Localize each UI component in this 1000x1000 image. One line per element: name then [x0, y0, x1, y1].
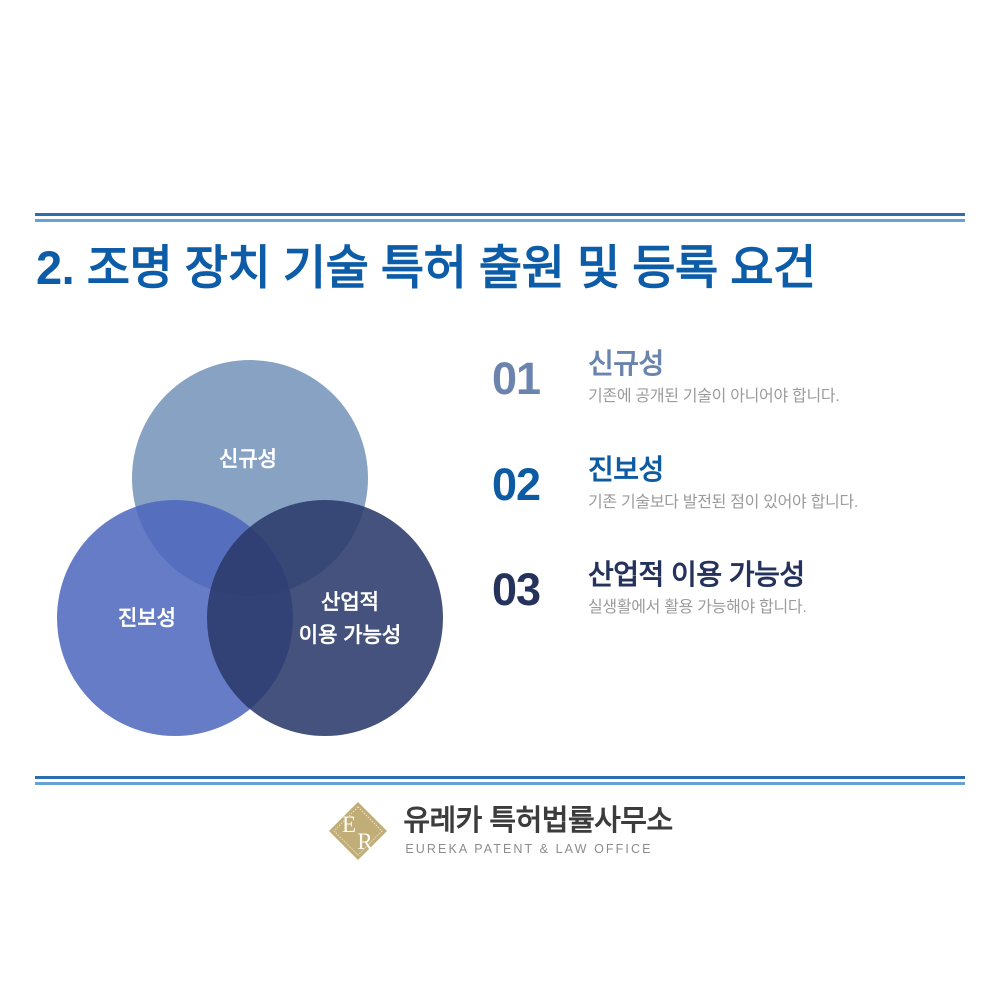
firm-name-english: EUREKA PATENT & LAW OFFICE	[403, 842, 652, 856]
requirement-body-01: 신규성 기존에 공개된 기술이 아니어야 합니다.	[588, 346, 962, 408]
page-title: 2. 조명 장치 기술 특허 출원 및 등록 요건	[36, 243, 966, 293]
venn-label-bottom-left: 진보성	[118, 607, 176, 630]
eureka-diamond-logo-icon: E R	[327, 800, 389, 862]
requirements-list: 01 신규성 기존에 공개된 기술이 아니어야 합니다. 02 진보성 기존 기…	[492, 346, 962, 619]
requirement-number-03: 03	[492, 557, 588, 612]
requirement-body-02: 진보성 기존 기술보다 발전된 점이 있어야 합니다.	[588, 452, 962, 514]
divider-top-line-secondary	[35, 219, 965, 222]
requirement-item-03: 03 산업적 이용 가능성 실생활에서 활용 가능해야 합니다.	[492, 557, 962, 619]
requirement-heading-03: 산업적 이용 가능성	[588, 557, 962, 592]
logo-monogram-r: R	[358, 829, 374, 854]
requirement-number-02: 02	[492, 452, 588, 507]
requirement-item-01: 01 신규성 기존에 공개된 기술이 아니어야 합니다.	[492, 346, 962, 408]
requirement-body-03: 산업적 이용 가능성 실생활에서 활용 가능해야 합니다.	[588, 557, 962, 619]
divider-bottom	[35, 776, 965, 785]
divider-top	[35, 213, 965, 222]
venn-label-top: 신규성	[219, 448, 277, 471]
requirement-description-03: 실생활에서 활용 가능해야 합니다.	[588, 597, 962, 619]
requirement-heading-02: 진보성	[588, 452, 962, 487]
venn-label-bottom-right-line2: 이용 가능성	[299, 624, 401, 647]
requirement-item-02: 02 진보성 기존 기술보다 발전된 점이 있어야 합니다.	[492, 452, 962, 514]
firm-name-block: 유레카 특허법률사무소 EUREKA PATENT & LAW OFFICE	[403, 806, 672, 856]
requirement-number-01: 01	[492, 346, 588, 401]
divider-bottom-line-secondary	[35, 782, 965, 785]
venn-circle-bottom-right	[207, 500, 443, 736]
footer-branding: E R 유레카 특허법률사무소 EUREKA PATENT & LAW OFFI…	[0, 800, 1000, 862]
logo-monogram-e: E	[342, 812, 356, 837]
requirement-description-01: 기존에 공개된 기술이 아니어야 합니다.	[588, 386, 962, 408]
venn-diagram: 신규성 진보성 산업적 이용 가능성	[55, 358, 445, 738]
firm-name-korean: 유레카 특허법률사무소	[403, 806, 672, 838]
slide-canvas: 2. 조명 장치 기술 특허 출원 및 등록 요건 신규성 진보성 산업적 이용…	[0, 0, 1000, 1000]
venn-label-bottom-right-line1: 산업적	[321, 591, 379, 614]
requirement-description-02: 기존 기술보다 발전된 점이 있어야 합니다.	[588, 492, 962, 514]
requirement-heading-01: 신규성	[588, 346, 962, 381]
